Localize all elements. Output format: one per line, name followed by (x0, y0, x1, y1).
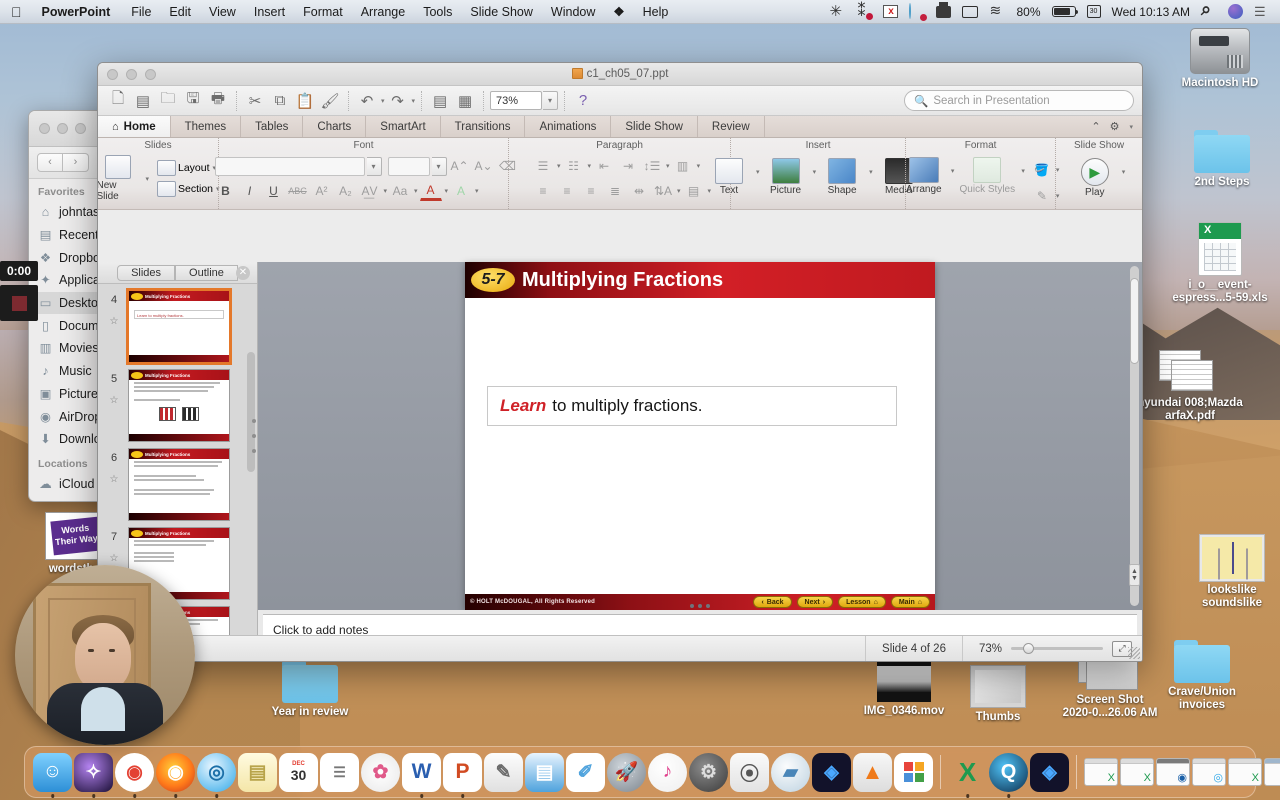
shape-fill-icon[interactable]: 🪣 (1031, 160, 1053, 180)
slide-nav-lesson-button[interactable]: Lesson⌂ (838, 596, 886, 608)
star-icon: ☆ (104, 395, 124, 406)
lesson-number-badge: 5-7 (471, 268, 515, 292)
bold-button[interactable]: B (215, 181, 237, 201)
current-slide[interactable]: 5-7 Multiplying Fractions Learn to multi… (465, 262, 935, 610)
desktop-icon-thumbs[interactable]: Thumbs (950, 665, 1046, 724)
dock-icon-dropbox-alt[interactable]: ◈ (1030, 753, 1069, 792)
font-size-input[interactable] (388, 157, 430, 176)
new-slide-icon (105, 155, 131, 179)
dock-icon-preview[interactable]: ✎ (484, 753, 523, 792)
line-spacing-dropdown-icon[interactable]: ▾ (666, 162, 670, 170)
insert-picture-dropdown-icon[interactable]: ▾ (813, 168, 817, 176)
stop-recording-button[interactable] (0, 285, 38, 321)
folder-icon (1194, 130, 1250, 173)
tab-home[interactable]: ⌂ Home (98, 116, 171, 137)
ppt-file-icon (572, 68, 583, 79)
home-icon: ⌂ (112, 121, 119, 133)
format-painter-icon[interactable]: 🖌 (318, 89, 342, 113)
desktop-icon-year-in-review[interactable]: Year in review (262, 660, 358, 719)
desktop-icon-label: Crave/Union invoices (1154, 686, 1250, 712)
tab-animations[interactable]: Animations (525, 116, 611, 137)
sidebar-item-label: AirDrop (59, 410, 101, 424)
picture-icon (772, 158, 800, 184)
new-slide-label: New Slide (97, 180, 140, 202)
ribbon[interactable]: Slides New Slide ▾ Layout ▾ Section (98, 138, 1142, 210)
redo-icon[interactable]: ↷ (386, 89, 410, 113)
bullets-dropdown-icon[interactable]: ▾ (557, 162, 561, 170)
font-color-dropdown-icon[interactable]: ▾ (445, 187, 449, 195)
home-icon: ⌂ (918, 599, 922, 606)
downloads-icon: ⬇ (38, 432, 53, 446)
dock-icon-safari[interactable]: ◎ (197, 753, 236, 792)
thumbnail-title: Multiplying Fractions (145, 452, 190, 457)
new-presentation-icon[interactable]: 🗋 (106, 89, 130, 113)
undo-dropdown-icon[interactable]: ▾ (381, 97, 385, 105)
dock-icon-reminders[interactable]: ☰ (320, 753, 359, 792)
align-text-button[interactable]: ⇹ (628, 181, 650, 201)
ribbon-group-paragraph: Paragraph ☰ ▾ ☷ ▾ ⇤ ⇥ ↕☰ ▾ ▥ ▾ ≡ ≡ ≡ (508, 138, 730, 209)
documents-icon: ▯ (38, 319, 53, 333)
home-icon: ⌂ (874, 599, 878, 606)
menu-slide-show[interactable]: Slide Show (461, 0, 542, 24)
menu-powerpoint[interactable]: PowerPoint (33, 0, 123, 24)
align-left-button[interactable]: ≡ (532, 181, 554, 201)
screen-snapper-icon[interactable] (829, 4, 845, 19)
dock-icon-word[interactable]: W (402, 753, 441, 792)
insert-shape-button[interactable]: Shape (820, 158, 864, 196)
play-dropdown-icon[interactable]: ▾ (1122, 168, 1126, 176)
objective-text: to multiply fractions. (552, 396, 702, 416)
tab-label: Themes (185, 121, 227, 133)
quick-styles-dropdown-icon[interactable]: ▾ (1021, 167, 1025, 175)
desktop-icon-label: hyundai 008;Mazda arfaX.pdf (1135, 397, 1245, 423)
chevron-down-icon[interactable]: ▾ (1129, 123, 1133, 131)
tab-themes[interactable]: Themes (171, 116, 242, 137)
icloud-icon: ☁ (38, 477, 53, 491)
slide-number: 4☆ (104, 290, 124, 363)
open-file-icon[interactable]: 🗀 (156, 89, 180, 113)
ribbon-group-slides: Slides New Slide ▾ Layout ▾ Section (98, 138, 218, 209)
increase-indent-button[interactable]: ⇥ (617, 156, 639, 176)
tab-label: Animations (539, 121, 596, 133)
menu-file[interactable]: File (122, 0, 160, 24)
desktop-icon-macintosh-hd[interactable]: Macintosh HD (1172, 28, 1268, 90)
notifications-icon[interactable] (856, 4, 872, 19)
menu-help[interactable]: Help (634, 0, 678, 24)
shape-icon (828, 158, 856, 184)
dock-icon-firefox[interactable]: ◉ (156, 753, 195, 792)
dock-icon-dropbox-app[interactable]: ◈ (812, 753, 851, 792)
slide-number: 5☆ (104, 369, 124, 442)
tab-smartart[interactable]: SmartArt (366, 116, 440, 137)
desktop-icon-hyundai-carfax-pdf[interactable]: hyundai 008;Mazda arfaX.pdf (1135, 350, 1245, 423)
menu-edit[interactable]: Edit (160, 0, 200, 24)
document-title: c1_ch05_07.ppt (98, 68, 1142, 80)
desktop-icon-lookslike-soundslike[interactable]: lookslike soundslike (1184, 535, 1280, 610)
thumbnail-title: Multiplying Fractions (145, 294, 190, 299)
slide-pane-tabs[interactable]: Slides Outline ✕ (98, 262, 257, 284)
macos-menubar[interactable]:  PowerPoint File Edit View Insert Forma… (0, 0, 1280, 24)
ribbon-group-insert: Insert Text ▾ Picture ▾ Shape ▾ (730, 138, 905, 209)
remote-disc-icon: ◎ (38, 500, 53, 502)
arrange-dropdown-icon[interactable]: ▾ (951, 167, 955, 175)
change-case-dropdown-icon[interactable]: ▾ (414, 187, 418, 195)
text-direction-dropdown-icon[interactable]: ▾ (677, 187, 681, 195)
collapse-ribbon-icon[interactable]: ⌃ (1091, 120, 1100, 133)
applications-icon: ✦ (38, 273, 53, 287)
minimized-window-media[interactable]: ◉ (1156, 758, 1190, 786)
character-spacing-button[interactable]: A͟V (359, 181, 381, 201)
dock-icon-quicktime[interactable]: Q (989, 753, 1028, 792)
printer-icon[interactable] (936, 6, 951, 18)
dropbox-icon: ❖ (38, 251, 53, 265)
dock-icon-excel[interactable]: X (948, 753, 987, 792)
dock-icon-system-preferences[interactable]: ⚙ (689, 753, 728, 792)
print-icon[interactable]: 🖶 (206, 89, 230, 113)
dock-icon-powerpoint[interactable]: P (443, 753, 482, 792)
insert-text-dropdown-icon[interactable]: ▾ (756, 168, 760, 176)
gear-icon[interactable]: ⚙ (1110, 120, 1120, 133)
align-right-button[interactable]: ≡ (580, 181, 602, 201)
tab-outline[interactable]: Outline (175, 265, 238, 281)
decrease-font-size-icon[interactable]: A⌄ (473, 156, 495, 176)
font-color-button[interactable]: A (420, 181, 442, 201)
powerpoint-statusbar: Slide 4 of 26 73% ⤢ (98, 635, 1142, 661)
siri-icon[interactable] (1228, 4, 1243, 19)
quick-styles-label: Quick Styles (960, 184, 1016, 195)
menu-window[interactable]: Window (542, 0, 604, 24)
webcam-overlay[interactable] (15, 565, 195, 745)
convert-smartart-button[interactable]: ▤ (683, 181, 705, 201)
maximize-icon[interactable] (75, 123, 86, 134)
clock-icon: ▤ (38, 228, 53, 242)
desktop-icon-label: Year in review (262, 706, 358, 719)
screen-recording-badge: 0:00 (0, 261, 38, 321)
ribbon-group-slide-show: Slide Show ▶ Play ▾ (1055, 138, 1142, 209)
minimize-icon[interactable] (57, 123, 68, 134)
dock-icon-image-capture[interactable]: ▰ (771, 753, 810, 792)
zoom-controls[interactable]: 73% ⤢ (962, 636, 1142, 662)
search-icon: 🔍 (914, 94, 928, 108)
ribbon-group-title: Font (353, 140, 373, 152)
desktop-icon-label: IMG_0346.mov (856, 705, 952, 718)
control-center-icon[interactable] (1254, 4, 1270, 19)
desktop-icon-2nd-steps[interactable]: 2nd Steps (1174, 130, 1270, 189)
superscript-button[interactable]: A² (311, 181, 333, 201)
close-pane-icon[interactable]: ✕ (236, 266, 250, 280)
pictures-icon: ▣ (38, 387, 53, 401)
dock-icon-notability-alt[interactable]: ▤ (525, 753, 564, 792)
layout-icon (157, 160, 176, 176)
powerpoint-titlebar: c1_ch05_07.ppt (98, 63, 1142, 86)
smart-art-quick-icon[interactable]: ▦ (453, 89, 477, 113)
minimized-window-safari[interactable]: ◎ (1192, 758, 1226, 786)
section-icon (157, 181, 176, 197)
artwork-icon (1200, 535, 1264, 581)
dock-icon-office[interactable] (894, 753, 933, 792)
ribbon-group-title: Paragraph (596, 140, 643, 152)
folder-icon (1174, 640, 1230, 683)
slide-thumbnail-6[interactable]: Multiplying Fractions (128, 448, 230, 521)
justify-button[interactable]: ≣ (604, 181, 626, 201)
apple-logo-icon[interactable]:  (0, 5, 33, 19)
insert-picture-label: Picture (770, 185, 801, 196)
desktop-icon-label: i_o__event-espress...5-59.xls (1172, 279, 1268, 305)
slide-thumbnail-5[interactable]: Multiplying Fractions (128, 369, 230, 442)
movie-file-icon (877, 662, 931, 702)
battery-percent: 80% (1016, 5, 1040, 19)
ribbon-group-title: Format (965, 140, 997, 151)
dock-icon-launchpad[interactable]: 🚀 (607, 753, 646, 792)
play-button[interactable]: ▶ Play (1073, 158, 1117, 198)
arrange-icon (909, 157, 939, 183)
forward-icon[interactable]: › (63, 153, 89, 172)
dock-icon-calendar[interactable]: DEC30 (279, 753, 318, 792)
view-dots[interactable] (690, 604, 710, 608)
dock-icon-screenshot[interactable]: ⦿ (730, 753, 769, 792)
dock-icon-chrome[interactable]: ◉ (115, 753, 154, 792)
new-slide-button[interactable]: New Slide (97, 155, 140, 202)
dock-icon-siri[interactable]: ✧ (74, 753, 113, 792)
slide-number: 6☆ (104, 448, 124, 521)
dropbox-menu-icon[interactable]: ❖ (604, 0, 633, 24)
new-slide-dropdown-icon[interactable]: ▾ (145, 175, 149, 183)
home-icon: ⌂ (38, 205, 53, 219)
desktop-icon-img-0346-mov[interactable]: IMG_0346.mov (856, 662, 952, 718)
arrange-button[interactable]: Arrange (902, 157, 946, 195)
wifi-icon[interactable] (989, 4, 1005, 19)
line-spacing-button[interactable]: ↕☰ (641, 156, 663, 176)
font-name-input[interactable] (215, 157, 365, 176)
columns-dropdown-icon[interactable]: ▾ (697, 162, 701, 170)
menubar-clock[interactable]: Wed 10:13 AM (1112, 5, 1191, 19)
star-icon: ☆ (104, 474, 124, 485)
menu-view[interactable]: View (200, 0, 245, 24)
slide-objective-box[interactable]: Learn to multiply fractions. (487, 386, 897, 426)
hard-drive-icon (1190, 28, 1250, 74)
excel-status-icon[interactable]: x (883, 5, 898, 18)
insert-text-button[interactable]: Text (707, 158, 751, 196)
folder-icon (282, 660, 338, 703)
tab-tables[interactable]: Tables (241, 116, 303, 137)
insert-shape-dropdown-icon[interactable]: ▾ (869, 168, 873, 176)
dropbox-status-icon[interactable] (909, 4, 925, 19)
tab-label: Review (712, 121, 750, 133)
quick-access-toolbar[interactable]: 🗋 ▤ 🗀 🖫 🖶 ✂ ⧉ 📋 🖌 ↶ ▾ ↷ ▾ ▤ ▦ 73% ▾ ? 🔍 … (98, 86, 1142, 116)
minimized-window-excel-2[interactable]: X (1120, 758, 1154, 786)
insert-picture-button[interactable]: Picture (764, 158, 808, 196)
slide-stage[interactable]: 5-7 Multiplying Fractions Learn to multi… (258, 262, 1142, 610)
powerpoint-window[interactable]: c1_ch05_07.ppt 🗋 ▤ 🗀 🖫 🖶 ✂ ⧉ 📋 🖌 ↶ ▾ ↷ ▾… (97, 62, 1143, 662)
desktop-icon-crave-union-invoices[interactable]: Crave/Union invoices (1154, 640, 1250, 712)
strikethrough-button[interactable]: ABC (287, 181, 309, 201)
text-direction-button[interactable]: ⇅A (652, 181, 674, 201)
character-spacing-dropdown-icon[interactable]: ▾ (384, 187, 388, 195)
battery-icon[interactable] (1052, 6, 1076, 17)
copy-icon[interactable]: ⧉ (268, 89, 292, 113)
folder-icon (970, 665, 1026, 708)
text-highlight-dropdown-icon[interactable]: ▾ (475, 187, 479, 195)
ribbon-tabs[interactable]: ⌂ Home Themes Tables Charts SmartArt Tra… (98, 116, 1142, 138)
zoom-input[interactable]: 73% (490, 91, 542, 110)
cut-icon[interactable]: ✂ (243, 89, 267, 113)
slide-title: Multiplying Fractions (522, 269, 723, 292)
list-item[interactable]: 6☆ Multiplying Fractions (98, 442, 257, 521)
slide-nav-main-button[interactable]: Main⌂ (891, 596, 930, 608)
presenter-shirt (81, 687, 125, 731)
insert-text-label: Text (720, 185, 738, 196)
menu-arrange[interactable]: Arrange (352, 0, 414, 24)
spotlight-search-icon[interactable] (1201, 4, 1217, 19)
slide-header: 5-7 Multiplying Fractions (465, 262, 935, 298)
menu-tools[interactable]: Tools (414, 0, 461, 24)
zoom-stepper-icon[interactable]: ▾ (543, 91, 558, 110)
star-icon: ☆ (104, 316, 124, 327)
subscript-button[interactable]: A₂ (335, 181, 357, 201)
chevron-right-icon: › (823, 599, 825, 606)
slide-editor: 5-7 Multiplying Fractions Learn to multi… (258, 262, 1142, 661)
new-slide-quick-icon[interactable]: ▤ (428, 89, 452, 113)
quick-styles-button[interactable]: Quick Styles (958, 157, 1016, 195)
desktop-icon-label: 2nd Steps (1174, 176, 1270, 189)
sidebar-item-label: Movies (59, 341, 99, 355)
slide-pane-scrollbar[interactable] (247, 352, 255, 472)
play-icon: ▶ (1081, 158, 1109, 186)
align-center-button[interactable]: ≡ (556, 181, 578, 201)
close-icon[interactable] (39, 123, 50, 134)
save-icon[interactable]: 🖫 (181, 89, 205, 113)
search-placeholder: Search in Presentation (933, 95, 1049, 107)
slide-nav-next-button[interactable]: Next› (797, 596, 834, 608)
ribbon-group-title: Slides (144, 140, 171, 152)
desktop-icon-label: lookslike soundslike (1184, 584, 1280, 610)
tab-label: Tables (255, 121, 288, 133)
change-case-button[interactable]: Aa (389, 181, 411, 201)
zoom-slider[interactable] (1011, 647, 1103, 650)
back-icon[interactable]: ‹ (37, 153, 63, 172)
dock-icon-finder[interactable]: ☺ (33, 753, 72, 792)
tab-label: Transitions (455, 121, 511, 133)
desktop-icon-label: Macintosh HD (1172, 77, 1268, 90)
increase-font-size-icon[interactable]: A⌃ (449, 156, 471, 176)
copyright-text: © HOLT McDOUGAL, All Rights Reserved (470, 599, 595, 605)
pdf-stack-icon (1159, 350, 1221, 394)
desktop-icon-event-espress-xls[interactable]: i_o__event-espress...5-59.xls (1172, 222, 1268, 305)
desktop-icon: ▭ (38, 296, 53, 310)
font-size-dropdown-icon[interactable]: ▾ (432, 157, 447, 176)
minimized-window-excel-3[interactable]: X (1228, 758, 1262, 786)
movies-icon: ▥ (38, 341, 53, 355)
minimized-window-firefox[interactable]: ◉ (1264, 758, 1280, 786)
calendar-status-icon[interactable]: 30 (1087, 5, 1101, 18)
dock-icon-photos[interactable]: ✿ (361, 753, 400, 792)
airplay-icon[interactable] (962, 6, 978, 18)
objective-emphasis: Learn (500, 396, 546, 416)
presenter-face (75, 623, 131, 691)
tab-charts[interactable]: Charts (303, 116, 366, 137)
dock-icon-itunes[interactable]: ♪ (648, 753, 687, 792)
tab-review[interactable]: Review (698, 116, 765, 137)
menu-insert[interactable]: Insert (245, 0, 294, 24)
arrange-label: Arrange (906, 184, 942, 195)
desktop-icon-label: Thumbs (950, 711, 1046, 724)
help-icon[interactable]: ? (571, 89, 595, 113)
minimized-window-excel-1[interactable]: X (1084, 758, 1118, 786)
excel-file-icon (1198, 222, 1242, 276)
tab-label: Charts (317, 121, 351, 133)
desktop-icon-label: Screen Shot 2020-0...26.06 AM (1062, 694, 1158, 720)
insert-shape-label: Shape (828, 185, 857, 196)
window-resize-grip[interactable] (1128, 647, 1140, 659)
chevron-left-icon: ‹ (761, 599, 763, 606)
search-box[interactable]: 🔍 Search in Presentation (904, 90, 1134, 111)
pane-splitter-handle[interactable] (251, 419, 257, 453)
dock-icon-notability[interactable]: ✐ (566, 753, 605, 792)
zoom-level-label: 73% (979, 643, 1002, 655)
decrease-indent-button[interactable]: ⇤ (593, 156, 615, 176)
tab-slide-show[interactable]: Slide Show (611, 116, 698, 137)
ribbon-group-font: Font ▾ ▾ A⌃ A⌄ ⌫ B I U ABC A² A₂ (218, 138, 508, 209)
tab-label: Home (124, 121, 156, 133)
airdrop-icon: ◉ (38, 410, 53, 424)
dock-icon-vlc[interactable]: ▲ (853, 753, 892, 792)
menu-format[interactable]: Format (294, 0, 352, 24)
list-item[interactable]: 5☆ Multiplying Fractions (98, 363, 257, 442)
paste-icon[interactable]: 📋 (293, 89, 317, 113)
dock-icon-notes[interactable]: ▤ (238, 753, 277, 792)
document-title-text: c1_ch05_07.ppt (587, 68, 669, 80)
tab-label: SmartArt (380, 121, 425, 133)
italic-button[interactable]: I (239, 181, 261, 201)
sidebar-item-label: Music (59, 364, 92, 378)
tab-transitions[interactable]: Transitions (441, 116, 526, 137)
undo-icon[interactable]: ↶ (355, 89, 379, 113)
numbering-button[interactable]: ☷ (563, 156, 585, 176)
numbering-dropdown-icon[interactable]: ▾ (588, 162, 592, 170)
shape-line-icon[interactable]: ✎ (1031, 186, 1053, 206)
stage-scroll-arrows[interactable]: ▲▼ (1129, 564, 1140, 586)
open-template-icon[interactable]: ▤ (131, 89, 155, 113)
text-box-icon (715, 158, 743, 184)
text-highlight-button[interactable]: A (450, 181, 472, 201)
underline-button[interactable]: U (263, 181, 285, 201)
powerpoint-workspace: Slides Outline ✕ 4☆ Multiplying Fraction… (98, 262, 1142, 661)
slide-thumbnail-4[interactable]: Multiplying Fractions Learn to multiply … (128, 290, 230, 363)
macos-dock[interactable]: ☺ ✧ ◉ ◉ ◎ ▤ DEC30 ☰ ✿ W P ✎ ▤ ✐ 🚀 ♪ ⚙ ⦿ … (24, 746, 1256, 798)
play-label: Play (1085, 187, 1104, 198)
ribbon-group-format: Format Arrange ▾ Quick Styles ▾ 🪣▾ ✎▾ (905, 138, 1055, 209)
tab-label: Slide Show (625, 121, 683, 133)
tab-slides[interactable]: Slides (117, 265, 175, 281)
columns-button[interactable]: ▥ (672, 156, 694, 176)
bullets-button[interactable]: ☰ (532, 156, 554, 176)
thumbnail-title: Multiplying Fractions (145, 531, 190, 536)
ribbon-group-title: Slide Show (1074, 140, 1124, 152)
thumbnail-title: Multiplying Fractions (145, 373, 190, 378)
thumbnail-body: Learn to multiply fractions. (135, 311, 223, 320)
star-icon: ☆ (104, 553, 124, 564)
stage-scrollbar[interactable] (1130, 266, 1139, 606)
redo-dropdown-icon[interactable]: ▾ (412, 97, 416, 105)
slide-counter: Slide 4 of 26 (865, 636, 962, 662)
font-name-dropdown-icon[interactable]: ▾ (367, 157, 382, 176)
slide-nav-back-button[interactable]: ‹Back (753, 596, 791, 608)
quick-styles-icon (973, 157, 1001, 183)
recording-timer: 0:00 (0, 261, 38, 281)
list-item[interactable]: 4☆ Multiplying Fractions Learn to multip… (98, 284, 257, 363)
ribbon-group-title: Insert (806, 140, 831, 152)
music-icon: ♪ (38, 364, 53, 378)
